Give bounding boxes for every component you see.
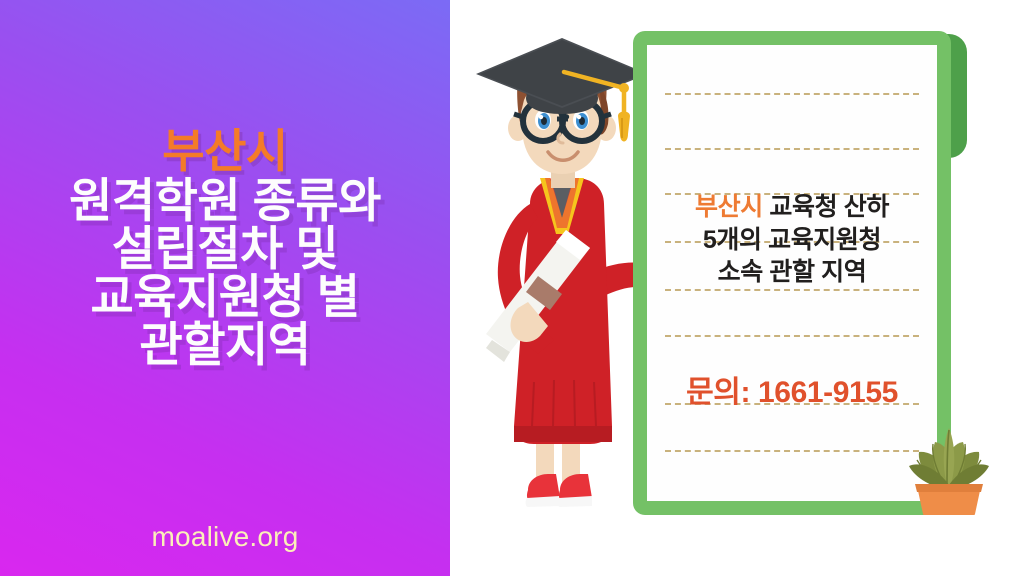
title-block: 부산시 원격학원 종류와 설립절차 및 교육지원청 별 관할지역 [0,128,450,369]
title-accent-text: 부산시 [0,128,450,175]
graduate-shoes [526,474,592,507]
poster-canvas: 부산시 원격학원 종류와 설립절차 및 교육지원청 별 관할지역 moalive… [0,0,1024,576]
notepad-message-line-1: 부산시 교육청 산하 [647,191,937,224]
notepad-message-accent: 부산시 [695,193,763,221]
notepad-rule-line [665,335,919,337]
title-line-4: 관할지역 [0,321,450,369]
title-line-1: 원격학원 종류와 [0,177,450,225]
notepad-message-line-1-rest: 교육청 산하 [763,193,889,221]
notepad-message-line-3: 소속 관할 지역 [647,256,937,289]
graduate-gown-hem [514,426,612,442]
plant-leaves [909,428,989,490]
left-title-panel: 부산시 원격학원 종류와 설립절차 및 교육지원청 별 관할지역 moalive… [0,0,450,576]
notepad-rule-line [665,93,919,95]
potted-plant-illustration [895,418,1003,516]
contact-phone-text: 문의: 1661-9155 [647,367,937,411]
title-line-2: 설립절차 및 [0,225,450,273]
notepad-message-line-2: 5개의 교육지원청 [647,224,937,257]
notepad-rule-line [665,289,919,291]
notepad-rule-line [665,450,919,452]
plant-pot [915,484,983,515]
title-line-3: 교육지원청 별 [0,273,450,321]
notepad-sheet: 부산시 교육청 산하 5개의 교육지원청 소속 관할 지역 문의: 1661-9… [647,45,937,501]
notepad-rule-line [665,148,919,150]
site-url-text: moalive.org [0,521,450,553]
notepad-message: 부산시 교육청 산하 5개의 교육지원청 소속 관할 지역 [647,191,937,289]
